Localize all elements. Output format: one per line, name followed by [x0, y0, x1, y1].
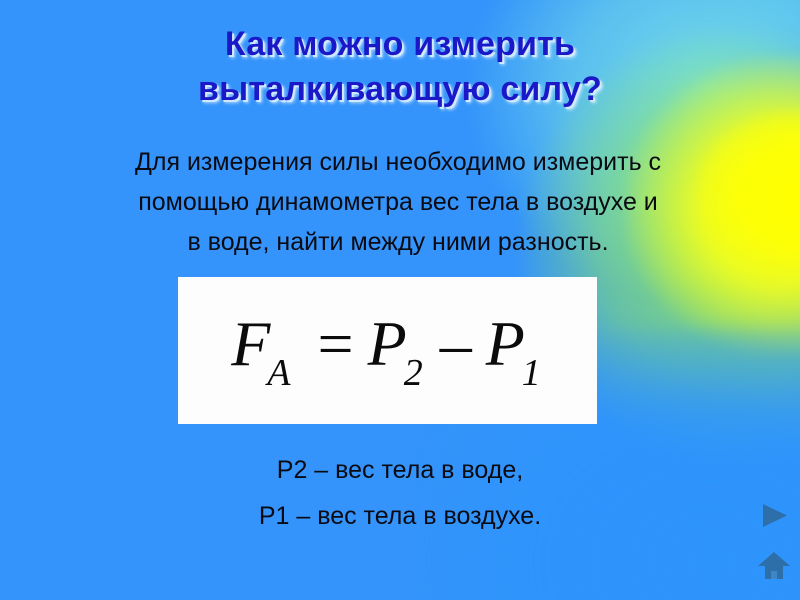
- formula-p2-symbol: P: [368, 308, 407, 379]
- formula-box: FA=P2–P1: [178, 277, 597, 424]
- slide-title-line-2: выталкивающую силу?: [0, 67, 800, 112]
- formula-equals-sign: =: [316, 308, 356, 379]
- slide-title-line-1: Как можно измерить: [0, 22, 800, 67]
- house-icon: [756, 548, 792, 584]
- next-slide-button[interactable]: [757, 499, 791, 533]
- legend-line-p1: P1 – вес тела в воздухе.: [0, 493, 800, 539]
- formula-expression: FA=P2–P1: [231, 312, 544, 386]
- formula-minus-sign: –: [438, 308, 474, 379]
- slide-title: Как можно измерить выталкивающую силу?: [0, 22, 800, 112]
- formula-p1-subscript: 1: [522, 352, 541, 394]
- formula-p1-symbol: P: [486, 308, 525, 379]
- body-line-2: помощью динамометра вес тела в воздухе и: [34, 182, 762, 222]
- formula-force-symbol: F: [231, 308, 270, 379]
- body-line-1: Для измерения силы необходимо измерить с: [34, 142, 762, 182]
- formula-p2-subscript: 2: [404, 352, 423, 394]
- body-line-3: в воде, найти между ними разность.: [34, 222, 762, 262]
- formula-legend: P2 – вес тела в воде, P1 – вес тела в во…: [0, 447, 800, 539]
- home-button[interactable]: [756, 548, 792, 584]
- formula-force-subscript: A: [267, 352, 290, 394]
- triangle-right-icon: [757, 499, 791, 533]
- presentation-slide: Как можно измерить выталкивающую силу? Д…: [0, 0, 800, 600]
- legend-line-p2: P2 – вес тела в воде,: [0, 447, 800, 493]
- body-paragraph: Для измерения силы необходимо измерить с…: [34, 142, 762, 262]
